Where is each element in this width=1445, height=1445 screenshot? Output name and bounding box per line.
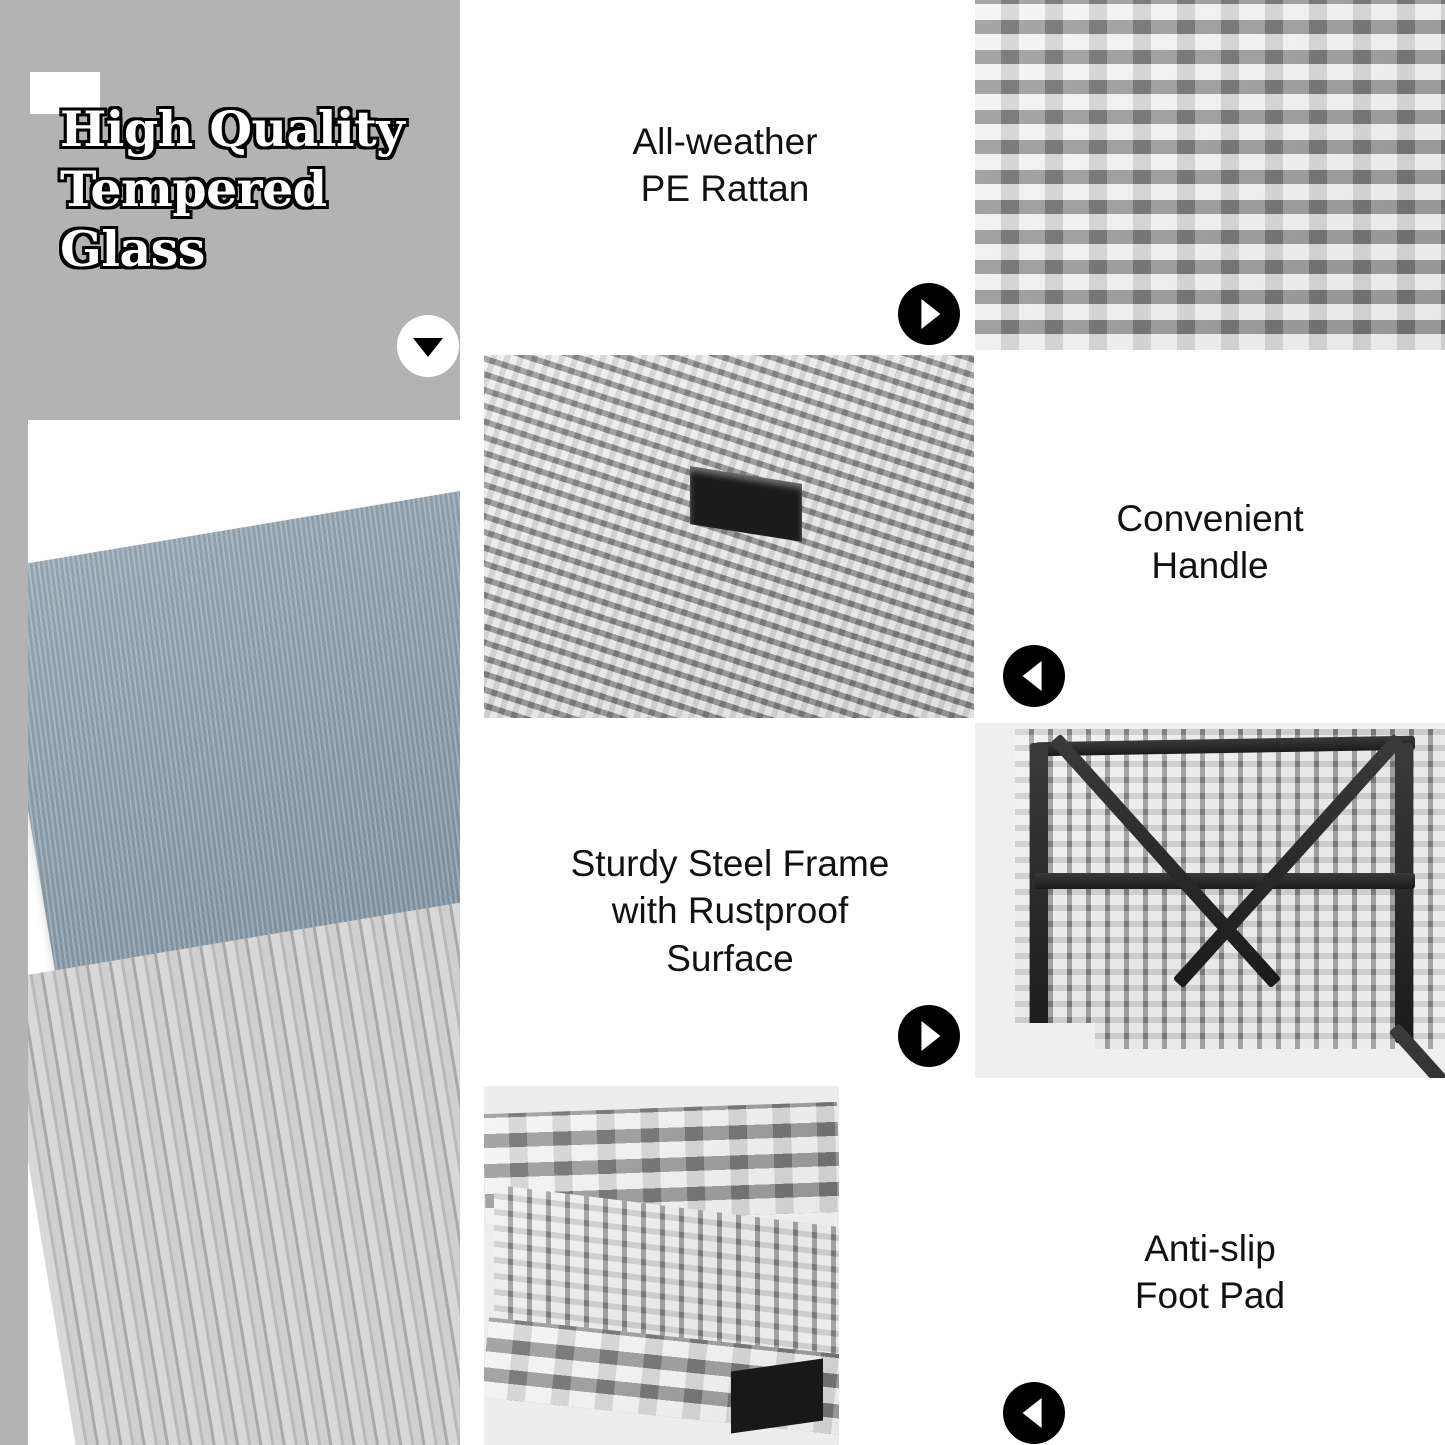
photo-carry-handle bbox=[484, 355, 974, 718]
feature-caption-anti-slip-foot-pad: Anti-slip Foot Pad bbox=[1000, 1225, 1420, 1320]
frame-corner-mask bbox=[975, 1023, 1095, 1078]
caption-line-1: All-weather bbox=[490, 118, 960, 165]
caption-line-1: Convenient bbox=[1000, 495, 1420, 542]
triangle-right-icon-pe-rattan bbox=[898, 283, 960, 345]
triangle-down-icon bbox=[397, 315, 459, 377]
triangle-right-icon-steel-frame bbox=[898, 1005, 960, 1067]
triangle-left-icon-handle bbox=[1003, 645, 1065, 707]
rattan-body bbox=[28, 888, 460, 1445]
photo-steel-frame bbox=[975, 723, 1445, 1078]
feature-caption-sturdy-steel-frame: Sturdy Steel Frame with Rustproof Surfac… bbox=[500, 840, 960, 982]
feature-caption-convenient-handle: Convenient Handle bbox=[1000, 495, 1420, 590]
frame-rattan-backdrop bbox=[1015, 729, 1445, 1049]
steel-bar-middle bbox=[1035, 873, 1415, 889]
caption-line-2: Foot Pad bbox=[1000, 1272, 1420, 1319]
page-title: High Quality Tempered Glass bbox=[60, 100, 440, 279]
headline-line-3: Glass bbox=[60, 220, 440, 280]
product-feature-collage: High Quality Tempered Glass All-weather … bbox=[0, 0, 1445, 1445]
caption-line-1: Sturdy Steel Frame bbox=[500, 840, 960, 887]
triangle-left-icon-foot-pad bbox=[1003, 1382, 1065, 1444]
steel-bar-left bbox=[1030, 743, 1048, 1043]
photo-pe-rattan-weave bbox=[975, 0, 1445, 350]
headline-line-1: High Quality bbox=[60, 100, 440, 160]
caption-line-2: PE Rattan bbox=[490, 165, 960, 212]
steel-bar-right bbox=[1395, 743, 1413, 1043]
handle-cutout bbox=[690, 466, 802, 542]
left-grey-column: High Quality Tempered Glass bbox=[0, 0, 460, 1445]
anti-slip-foot-pad bbox=[731, 1359, 823, 1434]
caption-line-2: Handle bbox=[1000, 542, 1420, 589]
feature-caption-all-weather-pe-rattan: All-weather PE Rattan bbox=[490, 118, 960, 213]
headline-line-2: Tempered bbox=[60, 160, 440, 220]
caption-line-3: Surface bbox=[500, 935, 960, 982]
photo-foot-pad bbox=[484, 1086, 839, 1445]
caption-line-1: Anti-slip bbox=[1000, 1225, 1420, 1272]
caption-line-2: with Rustproof bbox=[500, 887, 960, 934]
photo-tempered-glass-tabletop bbox=[28, 420, 460, 1445]
